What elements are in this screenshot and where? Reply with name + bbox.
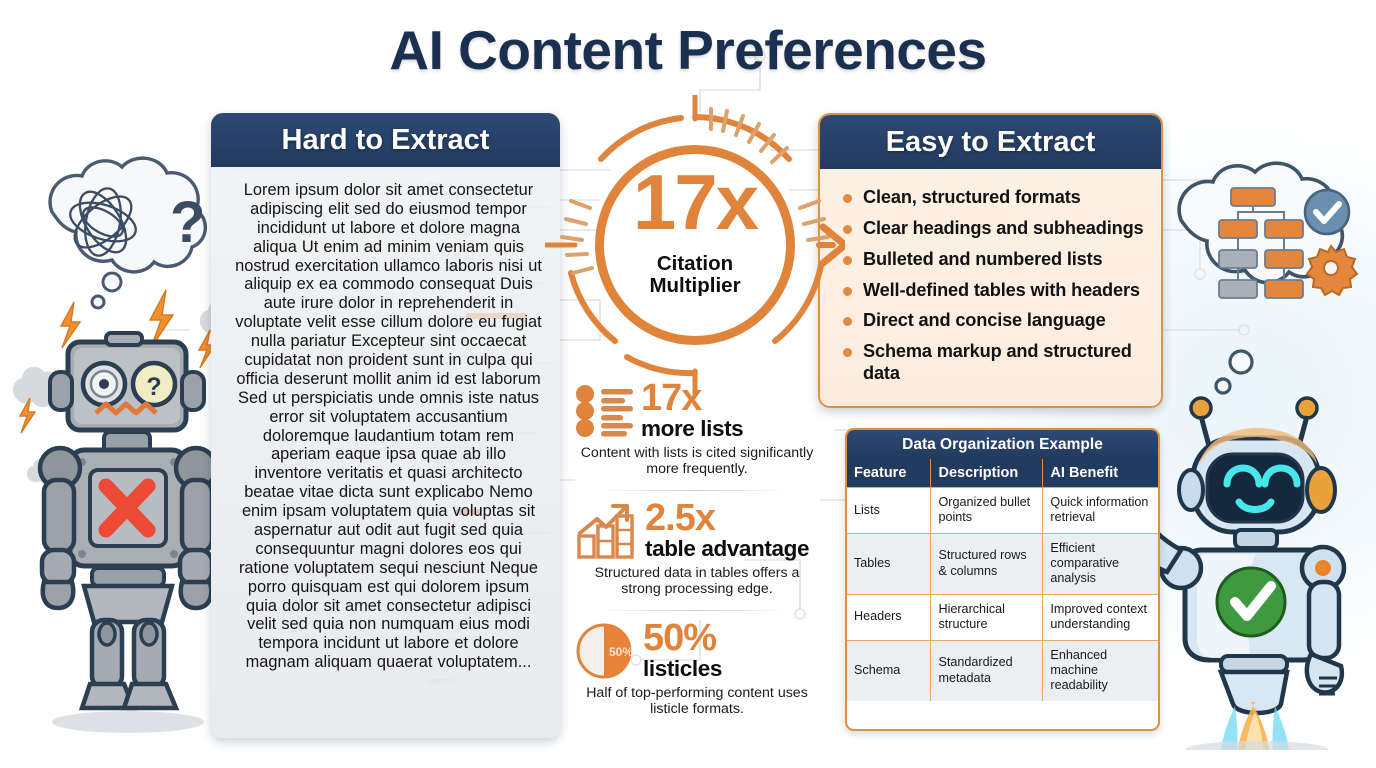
svg-text:?: ? [146, 373, 161, 401]
list-item: Bulleted and numbered lists [838, 249, 1147, 271]
pie-data-label: 50% [609, 645, 633, 659]
column-header-description: Description [931, 459, 1043, 488]
stat-value: 17x [641, 381, 819, 416]
stat-description: Content with lists is cited significantl… [575, 445, 819, 478]
cell-feature: Headers [847, 594, 931, 640]
table-row: Schema Standardized metadata Enhanced ma… [847, 640, 1158, 701]
stat-table-advantage: 2.5x table advantage Structured data in … [575, 500, 819, 598]
happy-rocket-robot [1135, 150, 1375, 750]
hub-value: 17x [575, 163, 815, 241]
hard-to-extract-text: Lorem ipsum dolor sit amet consectetur a… [235, 181, 542, 672]
easy-to-extract-body: Clean, structured formats Clear headings… [820, 169, 1161, 408]
hard-to-extract-panel: Hard to Extract func { return value; con… [211, 113, 560, 738]
structured-thought-bubble-icon [1179, 163, 1357, 393]
stat-label: listicles [643, 657, 819, 681]
list-item: Clean, structured formats [838, 187, 1147, 209]
table-title: Data Organization Example [847, 430, 1158, 459]
robot-body [1135, 510, 1344, 713]
stat-value: 50% [643, 621, 819, 656]
flow-box [1219, 220, 1257, 238]
green-check-badge-icon [1217, 568, 1285, 636]
flow-box [1219, 280, 1257, 298]
stat-listicles: 50% 50% listicles Half of top-performing… [575, 620, 819, 718]
table-header-row: Feature Description AI Benefit [847, 459, 1158, 488]
robot-body [40, 432, 216, 708]
cell-ai-benefit: Enhanced machine readability [1043, 640, 1158, 701]
easy-to-extract-panel: Easy to Extract Clean, structured format… [818, 113, 1163, 408]
data-organization-table: Data Organization Example Feature Descri… [845, 428, 1160, 731]
column-header-ai-benefit: AI Benefit [1043, 459, 1158, 488]
easy-to-extract-header: Easy to Extract [820, 115, 1161, 169]
table-row: Headers Hierarchical structure Improved … [847, 594, 1158, 640]
table: Feature Description AI Benefit Lists Org… [847, 459, 1158, 701]
cell-feature: Lists [847, 488, 931, 534]
cell-feature: Schema [847, 640, 931, 701]
flow-box [1265, 250, 1303, 268]
robot-head: ? [49, 333, 205, 430]
confused-robot: ? ? [8, 150, 244, 750]
flow-arrow-icon [819, 227, 845, 263]
cell-ai-benefit: Quick information retrieval [1043, 488, 1158, 534]
infographic-canvas: AI Content Preferences ? [0, 0, 1376, 768]
hub-label-line2: Multiplier [575, 275, 815, 298]
cell-feature: Tables [847, 533, 931, 594]
hard-to-extract-header: Hard to Extract [211, 113, 560, 167]
page-title: AI Content Preferences [0, 18, 1376, 82]
cell-description: Standardized metadata [931, 640, 1043, 701]
svg-text:consts;: consts; [428, 678, 457, 686]
hub-label-line1: Citation [575, 253, 815, 276]
check-circle-icon [1305, 190, 1349, 234]
half-pie-chart-icon: 50% [575, 622, 635, 680]
flow-box [1231, 188, 1275, 206]
table-row: Tables Structured rows & columns Efficie… [847, 533, 1158, 594]
stat-more-lists: 17x more lists Content with lists is cit… [575, 380, 819, 478]
question-mark-icon: ? [170, 190, 205, 255]
citation-multiplier-hub: 17x Citation Multiplier [575, 125, 815, 365]
table-row: Lists Organized bullet points Quick info… [847, 488, 1158, 534]
bar-chart-growth-icon [575, 503, 637, 559]
stat-description: Structured data in tables offers a stron… [575, 565, 819, 598]
cell-description: Hierarchical structure [931, 594, 1043, 640]
flow-box [1265, 280, 1303, 298]
robot-shadow [52, 711, 204, 733]
stat-label: more lists [641, 417, 819, 441]
column-header-feature: Feature [847, 459, 931, 488]
stat-description: Half of top-performing content uses list… [575, 685, 819, 718]
stat-divider [596, 610, 794, 611]
hard-to-extract-body: func { return value; const x = deps.map(… [211, 167, 560, 738]
bulleted-list-icon [575, 385, 633, 437]
robot-head [1179, 398, 1335, 532]
list-item: Direct and concise language [838, 310, 1147, 332]
list-item: Schema markup and structured data [838, 341, 1147, 385]
easy-to-extract-bullet-list: Clean, structured formats Clear headings… [838, 187, 1147, 385]
cell-description: Organized bullet points [931, 488, 1043, 534]
stat-label: table advantage [645, 537, 819, 561]
list-item: Clear headings and subheadings [838, 218, 1147, 240]
cell-description: Structured rows & columns [931, 533, 1043, 594]
robot-shadow [1185, 741, 1329, 750]
cell-ai-benefit: Efficient comparative analysis [1043, 533, 1158, 594]
flow-box [1219, 250, 1257, 268]
tangled-thought-bubble-icon: ? [50, 158, 205, 308]
cell-ai-benefit: Improved context understanding [1043, 594, 1158, 640]
stat-value: 2.5x [645, 501, 819, 536]
flow-box [1265, 220, 1303, 238]
list-item: Well-defined tables with headers [838, 280, 1147, 302]
stat-divider [596, 490, 794, 491]
